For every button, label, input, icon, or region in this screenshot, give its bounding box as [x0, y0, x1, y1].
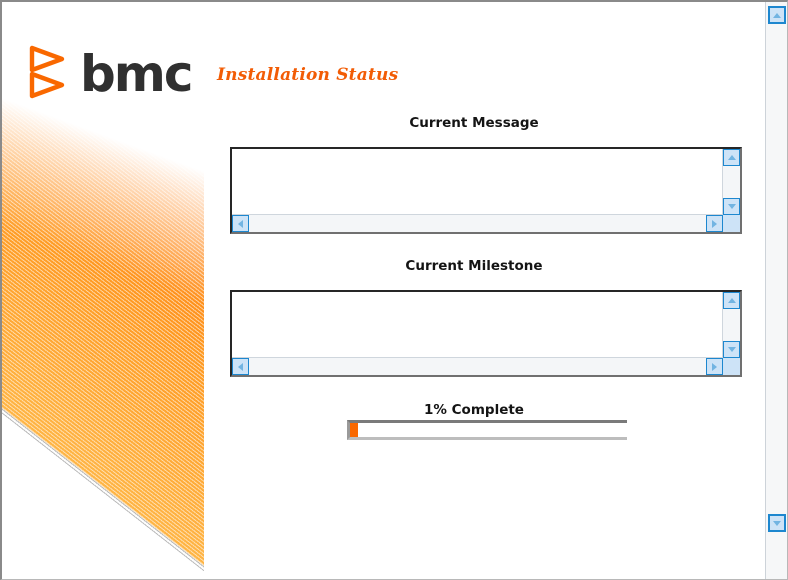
scroll-up-button[interactable] — [723, 292, 740, 309]
scroll-right-button[interactable] — [706, 215, 723, 232]
progress-label: 1% Complete — [204, 402, 744, 418]
triangle-up-icon — [728, 155, 736, 160]
triangle-down-icon — [773, 521, 781, 526]
triangle-up-icon — [773, 13, 781, 18]
diagonal-artwork — [2, 62, 204, 580]
triangle-left-icon — [238, 363, 243, 371]
scroll-left-button[interactable] — [232, 358, 249, 375]
triangle-down-icon — [728, 347, 736, 352]
scroll-down-button[interactable] — [723, 341, 740, 358]
current-milestone-horizontal-scrollbar[interactable] — [232, 357, 723, 375]
page-title: Installation Status — [217, 65, 398, 85]
installer-page: bmc Installation Status Current Message — [2, 2, 766, 580]
triangle-right-icon — [712, 220, 717, 228]
current-message-label: Current Message — [204, 115, 744, 131]
window-vertical-scrollbar[interactable] — [765, 2, 787, 580]
window-scroll-up-button[interactable] — [768, 6, 786, 24]
brand-panel: bmc — [2, 2, 204, 580]
scroll-right-button[interactable] — [706, 358, 723, 375]
progress-bar-fill — [350, 423, 358, 437]
scroll-down-button[interactable] — [723, 198, 740, 215]
bmc-chevron-logo-icon — [26, 44, 70, 100]
progress-bar — [347, 420, 627, 440]
current-milestone-label: Current Milestone — [204, 258, 744, 274]
triangle-down-icon — [728, 204, 736, 209]
scroll-left-button[interactable] — [232, 215, 249, 232]
content-area: Installation Status Current Message — [204, 2, 766, 580]
current-milestone-textarea[interactable] — [230, 290, 742, 377]
current-message-vertical-scrollbar[interactable] — [722, 149, 740, 215]
current-milestone-textarea-inner[interactable] — [232, 292, 740, 375]
current-message-horizontal-scrollbar[interactable] — [232, 214, 723, 232]
bmc-wordmark: bmc — [80, 49, 192, 99]
orange-stripe-wedge — [2, 62, 204, 580]
scrollbar-corner — [723, 358, 740, 375]
triangle-left-icon — [238, 220, 243, 228]
triangle-right-icon — [712, 363, 717, 371]
scroll-up-button[interactable] — [723, 149, 740, 166]
scrollbar-corner — [723, 215, 740, 232]
current-milestone-vertical-scrollbar[interactable] — [722, 292, 740, 358]
current-message-textarea-inner[interactable] — [232, 149, 740, 232]
window-scroll-down-button[interactable] — [768, 514, 786, 532]
triangle-up-icon — [728, 298, 736, 303]
bmc-logo: bmc — [26, 44, 192, 100]
current-message-textarea[interactable] — [230, 147, 742, 234]
installer-window: bmc Installation Status Current Message — [0, 0, 788, 580]
